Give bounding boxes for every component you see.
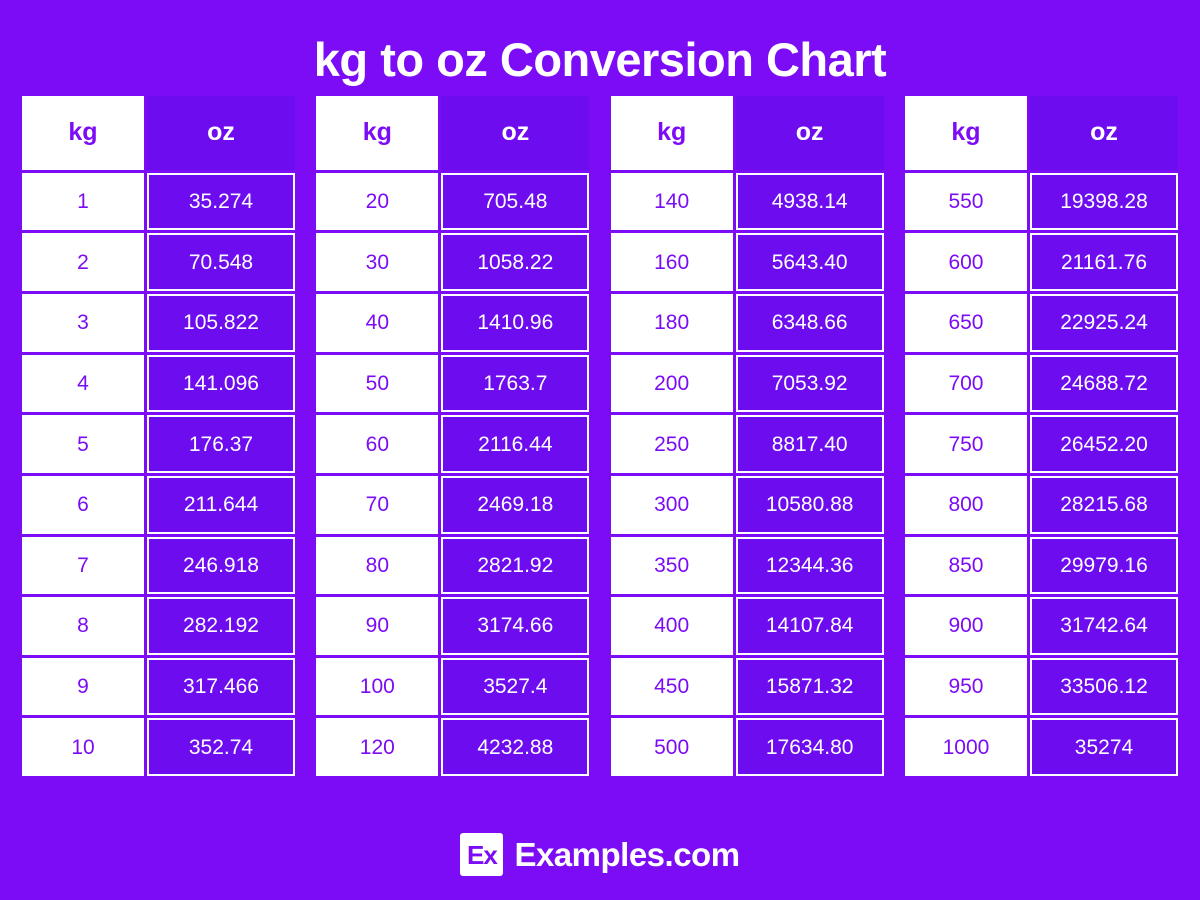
cell-oz-value: 7053.92 bbox=[736, 355, 884, 413]
table-row: 1605643.40 bbox=[611, 233, 884, 291]
cell-kg-value: 160 bbox=[611, 233, 733, 291]
table-row: 70024688.72 bbox=[905, 355, 1178, 413]
cell-kg-value: 750 bbox=[905, 415, 1027, 473]
cell-oz-value: 2821.92 bbox=[441, 537, 589, 595]
cell-kg-value: 3 bbox=[22, 294, 144, 352]
table-row: 702469.18 bbox=[316, 476, 589, 534]
cell-oz-value: 21161.76 bbox=[1030, 233, 1178, 291]
cell-oz-value: 1410.96 bbox=[441, 294, 589, 352]
table-row: 2508817.40 bbox=[611, 415, 884, 473]
cell-kg-value: 300 bbox=[611, 476, 733, 534]
cell-oz-value: 176.37 bbox=[147, 415, 295, 473]
cell-kg-value: 700 bbox=[905, 355, 1027, 413]
cell-oz-value: 12344.36 bbox=[736, 537, 884, 595]
cell-kg-value: 2 bbox=[22, 233, 144, 291]
cell-kg-value: 180 bbox=[611, 294, 733, 352]
table-row: 602116.44 bbox=[316, 415, 589, 473]
conversion-table-4: kgoz55019398.2860021161.7665022925.24700… bbox=[905, 96, 1178, 776]
table-row: 95033506.12 bbox=[905, 658, 1178, 716]
conversion-table-2: kgoz20705.48301058.22401410.96501763.760… bbox=[316, 96, 589, 776]
examples-logo-text: Examples.com bbox=[514, 838, 739, 871]
cell-kg-value: 500 bbox=[611, 718, 733, 776]
table-row: 40014107.84 bbox=[611, 597, 884, 655]
table-row: 60021161.76 bbox=[905, 233, 1178, 291]
cell-kg-value: 20 bbox=[316, 173, 438, 231]
table-row: 90031742.64 bbox=[905, 597, 1178, 655]
table-row: 45015871.32 bbox=[611, 658, 884, 716]
cell-oz-value: 15871.32 bbox=[736, 658, 884, 716]
column-header-oz: oz bbox=[736, 96, 884, 170]
cell-kg-value: 900 bbox=[905, 597, 1027, 655]
cell-kg-value: 10 bbox=[22, 718, 144, 776]
cell-kg-value: 60 bbox=[316, 415, 438, 473]
table-row: 4141.096 bbox=[22, 355, 295, 413]
cell-oz-value: 14107.84 bbox=[736, 597, 884, 655]
cell-oz-value: 6348.66 bbox=[736, 294, 884, 352]
table-row: 270.548 bbox=[22, 233, 295, 291]
cell-oz-value: 19398.28 bbox=[1030, 173, 1178, 231]
cell-oz-value: 141.096 bbox=[147, 355, 295, 413]
table-row: 10352.74 bbox=[22, 718, 295, 776]
cell-oz-value: 26452.20 bbox=[1030, 415, 1178, 473]
cell-kg-value: 100 bbox=[316, 658, 438, 716]
table-header-row: kgoz bbox=[316, 96, 589, 170]
cell-oz-value: 246.918 bbox=[147, 537, 295, 595]
conversion-table-3: kgoz1404938.141605643.401806348.66200705… bbox=[611, 96, 884, 776]
cell-kg-value: 7 bbox=[22, 537, 144, 595]
cell-kg-value: 450 bbox=[611, 658, 733, 716]
cell-kg-value: 50 bbox=[316, 355, 438, 413]
table-row: 301058.22 bbox=[316, 233, 589, 291]
cell-oz-value: 8817.40 bbox=[736, 415, 884, 473]
cell-kg-value: 90 bbox=[316, 597, 438, 655]
cell-kg-value: 800 bbox=[905, 476, 1027, 534]
cell-oz-value: 31742.64 bbox=[1030, 597, 1178, 655]
cell-oz-value: 35274 bbox=[1030, 718, 1178, 776]
table-row: 903174.66 bbox=[316, 597, 589, 655]
table-row: 55019398.28 bbox=[905, 173, 1178, 231]
column-header-oz: oz bbox=[1030, 96, 1178, 170]
cell-kg-value: 650 bbox=[905, 294, 1027, 352]
table-row: 75026452.20 bbox=[905, 415, 1178, 473]
column-header-kg: kg bbox=[316, 96, 438, 170]
table-row: 501763.7 bbox=[316, 355, 589, 413]
cell-oz-value: 352.74 bbox=[147, 718, 295, 776]
examples-logo-icon: Ex bbox=[460, 833, 503, 876]
cell-oz-value: 29979.16 bbox=[1030, 537, 1178, 595]
cell-oz-value: 282.192 bbox=[147, 597, 295, 655]
cell-kg-value: 550 bbox=[905, 173, 1027, 231]
cell-oz-value: 24688.72 bbox=[1030, 355, 1178, 413]
cell-kg-value: 850 bbox=[905, 537, 1027, 595]
cell-kg-value: 4 bbox=[22, 355, 144, 413]
cell-kg-value: 120 bbox=[316, 718, 438, 776]
cell-oz-value: 1058.22 bbox=[441, 233, 589, 291]
cell-oz-value: 3174.66 bbox=[441, 597, 589, 655]
table-row: 2007053.92 bbox=[611, 355, 884, 413]
cell-oz-value: 33506.12 bbox=[1030, 658, 1178, 716]
cell-oz-value: 17634.80 bbox=[736, 718, 884, 776]
cell-oz-value: 22925.24 bbox=[1030, 294, 1178, 352]
cell-kg-value: 1000 bbox=[905, 718, 1027, 776]
cell-kg-value: 40 bbox=[316, 294, 438, 352]
cell-kg-value: 6 bbox=[22, 476, 144, 534]
table-row: 9317.466 bbox=[22, 658, 295, 716]
page-title: kg to oz Conversion Chart bbox=[0, 0, 1200, 96]
cell-oz-value: 5643.40 bbox=[736, 233, 884, 291]
column-header-oz: oz bbox=[147, 96, 295, 170]
cell-kg-value: 8 bbox=[22, 597, 144, 655]
table-row: 8282.192 bbox=[22, 597, 295, 655]
cell-kg-value: 140 bbox=[611, 173, 733, 231]
table-row: 5176.37 bbox=[22, 415, 295, 473]
table-header-row: kgoz bbox=[905, 96, 1178, 170]
cell-kg-value: 400 bbox=[611, 597, 733, 655]
cell-kg-value: 600 bbox=[905, 233, 1027, 291]
table-row: 135.274 bbox=[22, 173, 295, 231]
cell-oz-value: 3527.4 bbox=[441, 658, 589, 716]
table-row: 35012344.36 bbox=[611, 537, 884, 595]
cell-oz-value: 105.822 bbox=[147, 294, 295, 352]
cell-kg-value: 200 bbox=[611, 355, 733, 413]
table-row: 100035274 bbox=[905, 718, 1178, 776]
cell-kg-value: 950 bbox=[905, 658, 1027, 716]
conversion-tables-container: kgoz135.274270.5483105.8224141.0965176.3… bbox=[0, 96, 1200, 776]
cell-oz-value: 28215.68 bbox=[1030, 476, 1178, 534]
cell-kg-value: 9 bbox=[22, 658, 144, 716]
column-header-oz: oz bbox=[441, 96, 589, 170]
cell-kg-value: 1 bbox=[22, 173, 144, 231]
cell-oz-value: 70.548 bbox=[147, 233, 295, 291]
cell-kg-value: 350 bbox=[611, 537, 733, 595]
conversion-table-1: kgoz135.274270.5483105.8224141.0965176.3… bbox=[22, 96, 295, 776]
table-row: 401410.96 bbox=[316, 294, 589, 352]
table-row: 1003527.4 bbox=[316, 658, 589, 716]
table-header-row: kgoz bbox=[22, 96, 295, 170]
table-row: 65022925.24 bbox=[905, 294, 1178, 352]
cell-oz-value: 10580.88 bbox=[736, 476, 884, 534]
cell-oz-value: 2116.44 bbox=[441, 415, 589, 473]
table-row: 1204232.88 bbox=[316, 718, 589, 776]
cell-kg-value: 80 bbox=[316, 537, 438, 595]
footer-branding: Ex Examples.com bbox=[0, 833, 1200, 876]
cell-oz-value: 4938.14 bbox=[736, 173, 884, 231]
cell-kg-value: 30 bbox=[316, 233, 438, 291]
cell-oz-value: 211.644 bbox=[147, 476, 295, 534]
table-row: 50017634.80 bbox=[611, 718, 884, 776]
cell-oz-value: 35.274 bbox=[147, 173, 295, 231]
cell-kg-value: 5 bbox=[22, 415, 144, 473]
cell-oz-value: 1763.7 bbox=[441, 355, 589, 413]
column-header-kg: kg bbox=[905, 96, 1027, 170]
table-row: 30010580.88 bbox=[611, 476, 884, 534]
cell-oz-value: 4232.88 bbox=[441, 718, 589, 776]
cell-oz-value: 317.466 bbox=[147, 658, 295, 716]
cell-oz-value: 705.48 bbox=[441, 173, 589, 231]
table-row: 85029979.16 bbox=[905, 537, 1178, 595]
table-row: 3105.822 bbox=[22, 294, 295, 352]
cell-oz-value: 2469.18 bbox=[441, 476, 589, 534]
column-header-kg: kg bbox=[22, 96, 144, 170]
table-row: 80028215.68 bbox=[905, 476, 1178, 534]
cell-kg-value: 250 bbox=[611, 415, 733, 473]
table-row: 6211.644 bbox=[22, 476, 295, 534]
table-row: 7246.918 bbox=[22, 537, 295, 595]
table-row: 20705.48 bbox=[316, 173, 589, 231]
table-row: 1404938.14 bbox=[611, 173, 884, 231]
table-row: 802821.92 bbox=[316, 537, 589, 595]
cell-kg-value: 70 bbox=[316, 476, 438, 534]
column-header-kg: kg bbox=[611, 96, 733, 170]
table-header-row: kgoz bbox=[611, 96, 884, 170]
table-row: 1806348.66 bbox=[611, 294, 884, 352]
